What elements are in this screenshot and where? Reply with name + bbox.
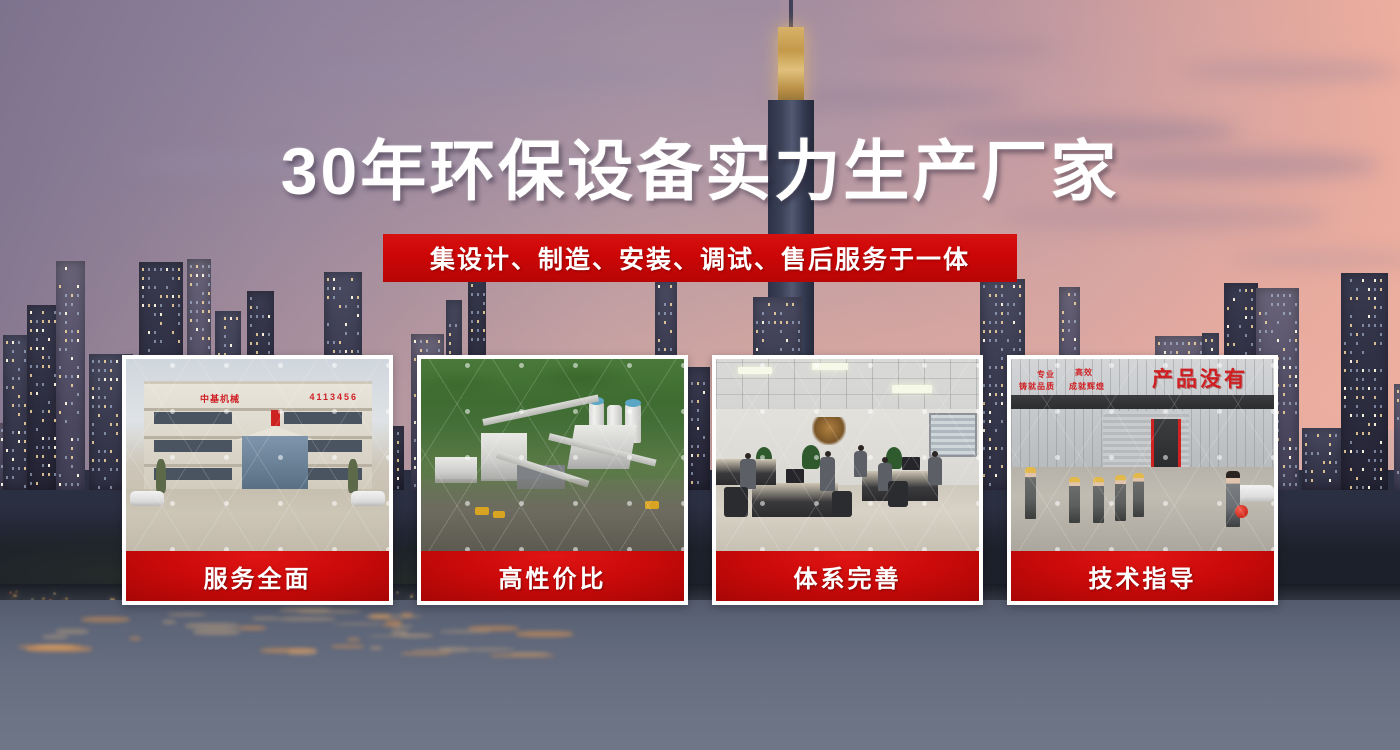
- card-caption-text: 服务全面: [204, 559, 312, 594]
- card-caption: 技术指导: [1011, 551, 1274, 601]
- building: [56, 261, 85, 490]
- subtitle-text: 集设计、制造、安装、调试、售后服务于一体: [430, 240, 970, 276]
- feature-card[interactable]: 产品没有 铸就品质 专业 成就辉煌 高效: [1007, 355, 1278, 605]
- subtitle-bar: 集设计、制造、安装、调试、售后服务于一体: [383, 234, 1017, 282]
- card-photo-factory-workers: 产品没有 铸就品质 专业 成就辉煌 高效: [1011, 359, 1274, 551]
- page-title: 30年环保设备实力生产厂家: [0, 134, 1400, 208]
- feature-card[interactable]: 高性价比: [417, 355, 688, 605]
- feature-card-list: 中基机械 4113456: [122, 355, 1278, 605]
- card-caption: 服务全面: [126, 551, 389, 601]
- card-caption: 高性价比: [421, 551, 684, 601]
- building: [1394, 384, 1400, 490]
- building: [1341, 273, 1388, 490]
- tower-crown-lights: [778, 27, 804, 105]
- building: [3, 335, 29, 490]
- photo-watermark-overlay: [421, 359, 684, 551]
- building: [1302, 428, 1344, 490]
- feature-card[interactable]: 中基机械 4113456: [122, 355, 393, 605]
- card-caption: 体系完善: [716, 551, 979, 601]
- card-caption-text: 技术指导: [1089, 559, 1197, 594]
- card-caption-text: 高性价比: [499, 559, 607, 594]
- card-photo-office-interior: [716, 359, 979, 551]
- photo-watermark-overlay: [1011, 359, 1274, 551]
- promo-banner: 30年环保设备实力生产厂家 集设计、制造、安装、调试、售后服务于一体 中基机械 …: [0, 0, 1400, 750]
- photo-watermark-overlay: [716, 359, 979, 551]
- card-photo-office-building: 中基机械 4113456: [126, 359, 389, 551]
- feature-card[interactable]: 体系完善: [712, 355, 983, 605]
- card-caption-text: 体系完善: [794, 559, 902, 594]
- photo-watermark-overlay: [126, 359, 389, 551]
- building: [27, 305, 57, 490]
- card-photo-industrial-plant: [421, 359, 684, 551]
